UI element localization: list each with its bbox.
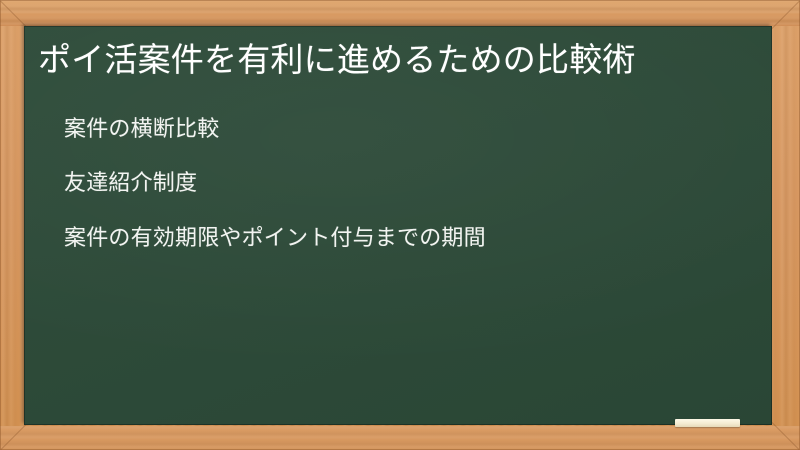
list-item: 案件の有効期限やポイント付与までの期間: [64, 225, 754, 254]
wood-frame-bottom: [0, 426, 800, 450]
list-item: 案件の横断比較: [64, 116, 754, 145]
board-content: ポイ活案件を有利に進めるための比較術 案件の横断比較 友達紹介制度 案件の有効期…: [24, 26, 772, 425]
slide-bullet-list: 案件の横断比較 友達紹介制度 案件の有効期限やポイント付与までの期間: [36, 116, 754, 254]
wood-frame-top: [0, 0, 800, 26]
chalk-stick-icon: [675, 419, 740, 427]
slide-title: ポイ活案件を有利に進めるための比較術: [36, 38, 738, 82]
list-item: 友達紹介制度: [64, 170, 754, 199]
chalkboard-surface: ポイ活案件を有利に進めるための比較術 案件の横断比較 友達紹介制度 案件の有効期…: [24, 26, 772, 425]
chalkboard-slide: ポイ活案件を有利に進めるための比較術 案件の横断比較 友達紹介制度 案件の有効期…: [0, 0, 800, 450]
